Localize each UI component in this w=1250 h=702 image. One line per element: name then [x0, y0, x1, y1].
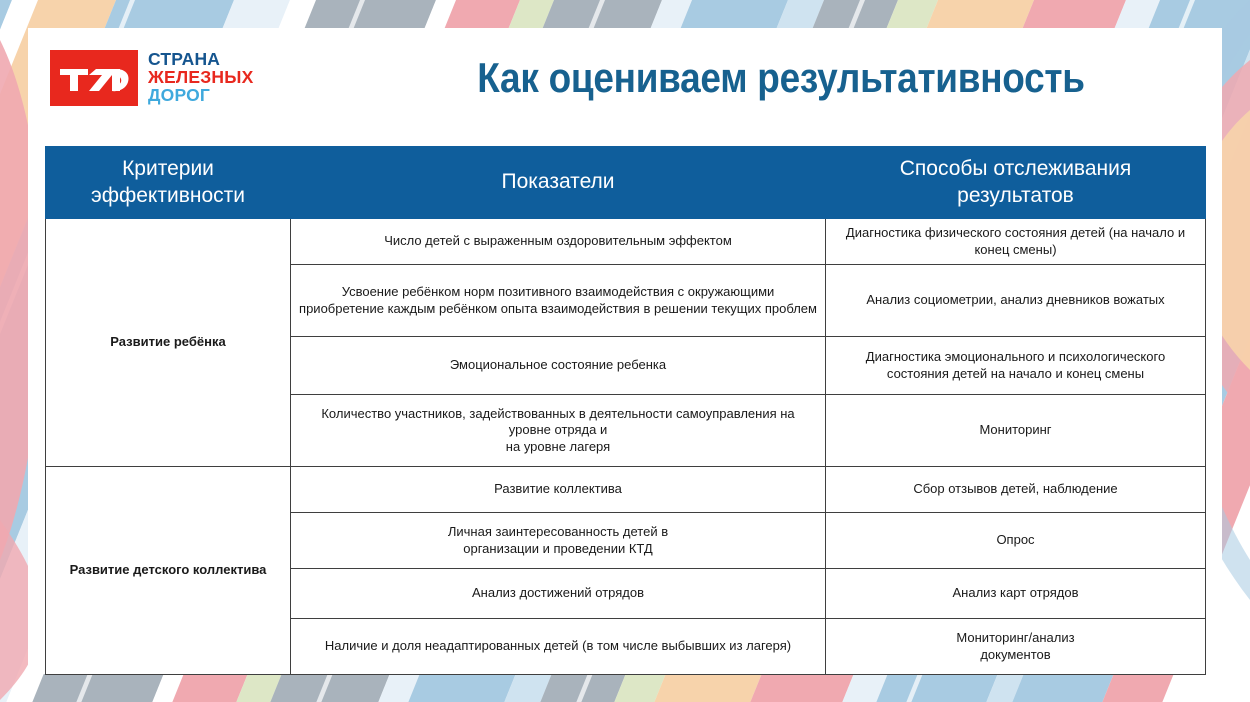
criteria-header-line-1: Критерии — [52, 156, 284, 182]
column-header-methods: Способы отслеживания результатов — [826, 147, 1206, 219]
indicator-cell: Анализ достижений отрядов — [291, 569, 826, 619]
logo-line-dorog: ДОРОГ — [148, 87, 253, 105]
page-title: Как оцениваем результативность — [416, 54, 1146, 102]
method-cell: Мониторинг — [826, 395, 1206, 467]
table-header-row: Критерии эффективности Показатели Способ… — [46, 147, 1206, 219]
methods-header-line-2: результатов — [832, 183, 1199, 209]
method-line-2: документов — [834, 647, 1197, 664]
slide-content-card: СТРАНА ЖЕЛЕЗНЫХ ДОРОГ Как оцениваем резу… — [28, 28, 1222, 674]
method-cell: Диагностика эмоционального и психологиче… — [826, 337, 1206, 395]
methods-header-line-1: Способы отслеживания — [832, 156, 1199, 182]
method-cell: Мониторинг/анализ документов — [826, 619, 1206, 675]
indicator-line-2: организации и проведении КТД — [299, 541, 817, 558]
rzd-logo-icon — [50, 50, 138, 106]
slide-background: СТРАНА ЖЕЛЕЗНЫХ ДОРОГ Как оцениваем резу… — [0, 0, 1250, 702]
indicator-cell: Личная заинтересованность детей в органи… — [291, 513, 826, 569]
method-cell: Диагностика физического состояния детей … — [826, 219, 1206, 265]
column-header-criteria: Критерии эффективности — [46, 147, 291, 219]
method-cell: Анализ карт отрядов — [826, 569, 1206, 619]
criteria-header-line-2: эффективности — [52, 183, 284, 209]
indicator-cell: Эмоциональное состояние ребенка — [291, 337, 826, 395]
table-row: Развитие ребёнка Число детей с выраженны… — [46, 219, 1206, 265]
column-header-indicators: Показатели — [291, 147, 826, 219]
method-cell: Анализ социометрии, анализ дневников вож… — [826, 265, 1206, 337]
slide-header: СТРАНА ЖЕЛЕЗНЫХ ДОРОГ Как оцениваем резу… — [28, 28, 1222, 133]
indicator-cell: Усвоение ребёнком норм позитивного взаим… — [291, 265, 826, 337]
indicator-line-1: Количество участников, задействованных в… — [299, 406, 817, 439]
brand-logo: СТРАНА ЖЕЛЕЗНЫХ ДОРОГ — [50, 50, 253, 106]
method-line-1: Мониторинг/анализ — [834, 630, 1197, 647]
method-cell: Сбор отзывов детей, наблюдение — [826, 467, 1206, 513]
table-row: Развитие детского коллектива Развитие ко… — [46, 467, 1206, 513]
indicator-cell: Число детей с выраженным оздоровительным… — [291, 219, 826, 265]
group-label-razvitie-kollektiva: Развитие детского коллектива — [46, 467, 291, 675]
method-cell: Опрос — [826, 513, 1206, 569]
indicator-cell: Наличие и доля неадаптированных детей (в… — [291, 619, 826, 675]
group-label-razvitie-rebenka: Развитие ребёнка — [46, 219, 291, 467]
indicator-cell: Развитие коллектива — [291, 467, 826, 513]
indicator-line-1: Личная заинтересованность детей в — [299, 524, 817, 541]
indicator-cell: Количество участников, задействованных в… — [291, 395, 826, 467]
indicator-line-2: на уровне лагеря — [299, 439, 817, 456]
effectiveness-table: Критерии эффективности Показатели Способ… — [45, 146, 1206, 675]
